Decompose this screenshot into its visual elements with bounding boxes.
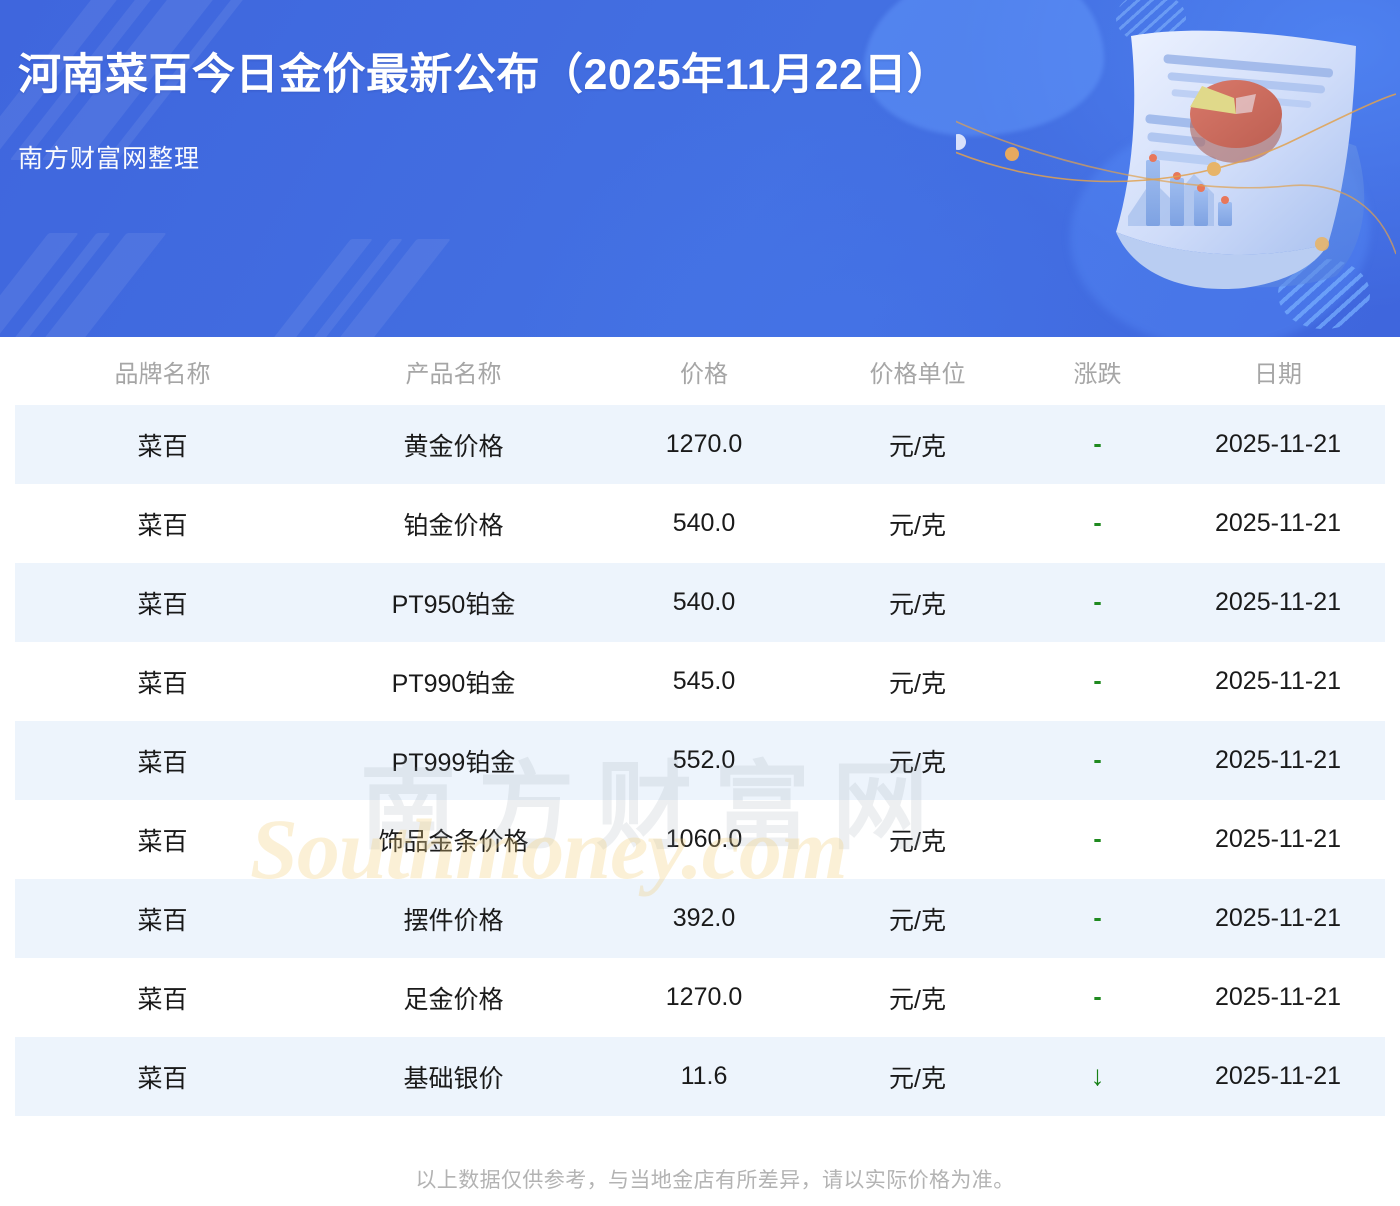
cell-date: 2025-11-21	[1171, 800, 1385, 879]
table-row: 菜百PT990铂金545.0元/克-2025-11-21	[15, 642, 1385, 721]
cell-price: 552.0	[597, 721, 811, 800]
cell-unit: 元/克	[811, 484, 1024, 563]
table-row: 菜百基础银价11.6元/克↓2025-11-21	[15, 1037, 1385, 1116]
cell-brand: 菜百	[15, 484, 310, 563]
cell-brand: 菜百	[15, 800, 310, 879]
cell-product: PT990铂金	[310, 642, 597, 721]
cell-change-flat: -	[1024, 800, 1171, 879]
cell-date: 2025-11-21	[1171, 484, 1385, 563]
cell-price: 1270.0	[597, 958, 811, 1037]
page-title: 河南菜百今日金价最新公布（2025年11月22日）	[18, 50, 950, 101]
column-header-unit: 价格单位	[811, 337, 1024, 405]
dash-icon: -	[1093, 825, 1101, 853]
cell-price: 540.0	[597, 563, 811, 642]
cell-price: 1270.0	[597, 405, 811, 484]
cell-date: 2025-11-21	[1171, 642, 1385, 721]
table-header: 品牌名称 产品名称 价格 价格单位 涨跌 日期	[15, 337, 1385, 405]
cell-price: 1060.0	[597, 800, 811, 879]
cell-brand: 菜百	[15, 642, 310, 721]
table-header-row: 品牌名称 产品名称 价格 价格单位 涨跌 日期	[15, 337, 1385, 405]
dash-icon: -	[1093, 509, 1101, 537]
column-header-date: 日期	[1171, 337, 1385, 405]
report-document-illustration	[956, 0, 1396, 324]
dash-icon: -	[1093, 667, 1101, 695]
cell-change-flat: -	[1024, 563, 1171, 642]
column-header-price: 价格	[597, 337, 811, 405]
cell-unit: 元/克	[811, 721, 1024, 800]
cell-change-flat: -	[1024, 642, 1171, 721]
cell-product: PT999铂金	[310, 721, 597, 800]
cell-price: 392.0	[597, 879, 811, 958]
cell-brand: 菜百	[15, 958, 310, 1037]
banner-text-block: 河南菜百今日金价最新公布（2025年11月22日） 南方财富网整理	[18, 50, 950, 175]
column-header-brand: 品牌名称	[15, 337, 310, 405]
table-row: 菜百铂金价格540.0元/克-2025-11-21	[15, 484, 1385, 563]
cell-price: 545.0	[597, 642, 811, 721]
dash-icon: -	[1093, 904, 1101, 932]
cell-change-down: ↓	[1024, 1037, 1171, 1116]
cell-date: 2025-11-21	[1171, 563, 1385, 642]
cell-product: 饰品金条价格	[310, 800, 597, 879]
dash-icon: -	[1093, 588, 1101, 616]
cell-date: 2025-11-21	[1171, 1037, 1385, 1116]
dash-icon: -	[1093, 430, 1101, 458]
cell-date: 2025-11-21	[1171, 721, 1385, 800]
cell-unit: 元/克	[811, 1037, 1024, 1116]
column-header-product: 产品名称	[310, 337, 597, 405]
cell-change-flat: -	[1024, 721, 1171, 800]
cell-brand: 菜百	[15, 879, 310, 958]
cell-date: 2025-11-21	[1171, 405, 1385, 484]
column-header-change: 涨跌	[1024, 337, 1171, 405]
cell-price: 11.6	[597, 1037, 811, 1116]
cell-date: 2025-11-21	[1171, 958, 1385, 1037]
cell-unit: 元/克	[811, 563, 1024, 642]
cell-price: 540.0	[597, 484, 811, 563]
table-row: 菜百黄金价格1270.0元/克-2025-11-21	[15, 405, 1385, 484]
table-footnote: 以上数据仅供参考，与当地金店有所差异，请以实际价格为准。	[15, 1116, 1400, 1194]
cell-unit: 元/克	[811, 642, 1024, 721]
cell-date: 2025-11-21	[1171, 879, 1385, 958]
cell-change-flat: -	[1024, 484, 1171, 563]
page-subtitle: 南方财富网整理	[18, 139, 950, 175]
cell-unit: 元/克	[811, 879, 1024, 958]
cell-product: 基础银价	[310, 1037, 597, 1116]
table-row: 菜百饰品金条价格1060.0元/克-2025-11-21	[15, 800, 1385, 879]
cell-brand: 菜百	[15, 405, 310, 484]
table-row: 菜百摆件价格392.0元/克-2025-11-21	[15, 879, 1385, 958]
page-banner: 河南菜百今日金价最新公布（2025年11月22日） 南方财富网整理	[0, 0, 1400, 337]
cell-product: 黄金价格	[310, 405, 597, 484]
cell-change-flat: -	[1024, 879, 1171, 958]
cell-unit: 元/克	[811, 405, 1024, 484]
cell-brand: 菜百	[15, 721, 310, 800]
table-row: 菜百足金价格1270.0元/克-2025-11-21	[15, 958, 1385, 1037]
cell-unit: 元/克	[811, 800, 1024, 879]
cell-product: 足金价格	[310, 958, 597, 1037]
cell-unit: 元/克	[811, 958, 1024, 1037]
arrow-down-icon: ↓	[1091, 1060, 1105, 1091]
cell-product: 铂金价格	[310, 484, 597, 563]
dash-icon: -	[1093, 746, 1101, 774]
cell-product: PT950铂金	[310, 563, 597, 642]
table-body: 菜百黄金价格1270.0元/克-2025-11-21菜百铂金价格540.0元/克…	[15, 405, 1385, 1116]
cell-brand: 菜百	[15, 563, 310, 642]
table-row: 菜百PT950铂金540.0元/克-2025-11-21	[15, 563, 1385, 642]
cell-brand: 菜百	[15, 1037, 310, 1116]
cell-change-flat: -	[1024, 405, 1171, 484]
cell-change-flat: -	[1024, 958, 1171, 1037]
table-row: 菜百PT999铂金552.0元/克-2025-11-21	[15, 721, 1385, 800]
price-table-container: 南方财富网 Southmoney.com 品牌名称 产品名称 价格 价格单位 涨…	[0, 337, 1400, 1194]
gold-price-table: 品牌名称 产品名称 价格 价格单位 涨跌 日期 菜百黄金价格1270.0元/克-…	[15, 337, 1385, 1116]
cell-product: 摆件价格	[310, 879, 597, 958]
dash-icon: -	[1093, 983, 1101, 1011]
